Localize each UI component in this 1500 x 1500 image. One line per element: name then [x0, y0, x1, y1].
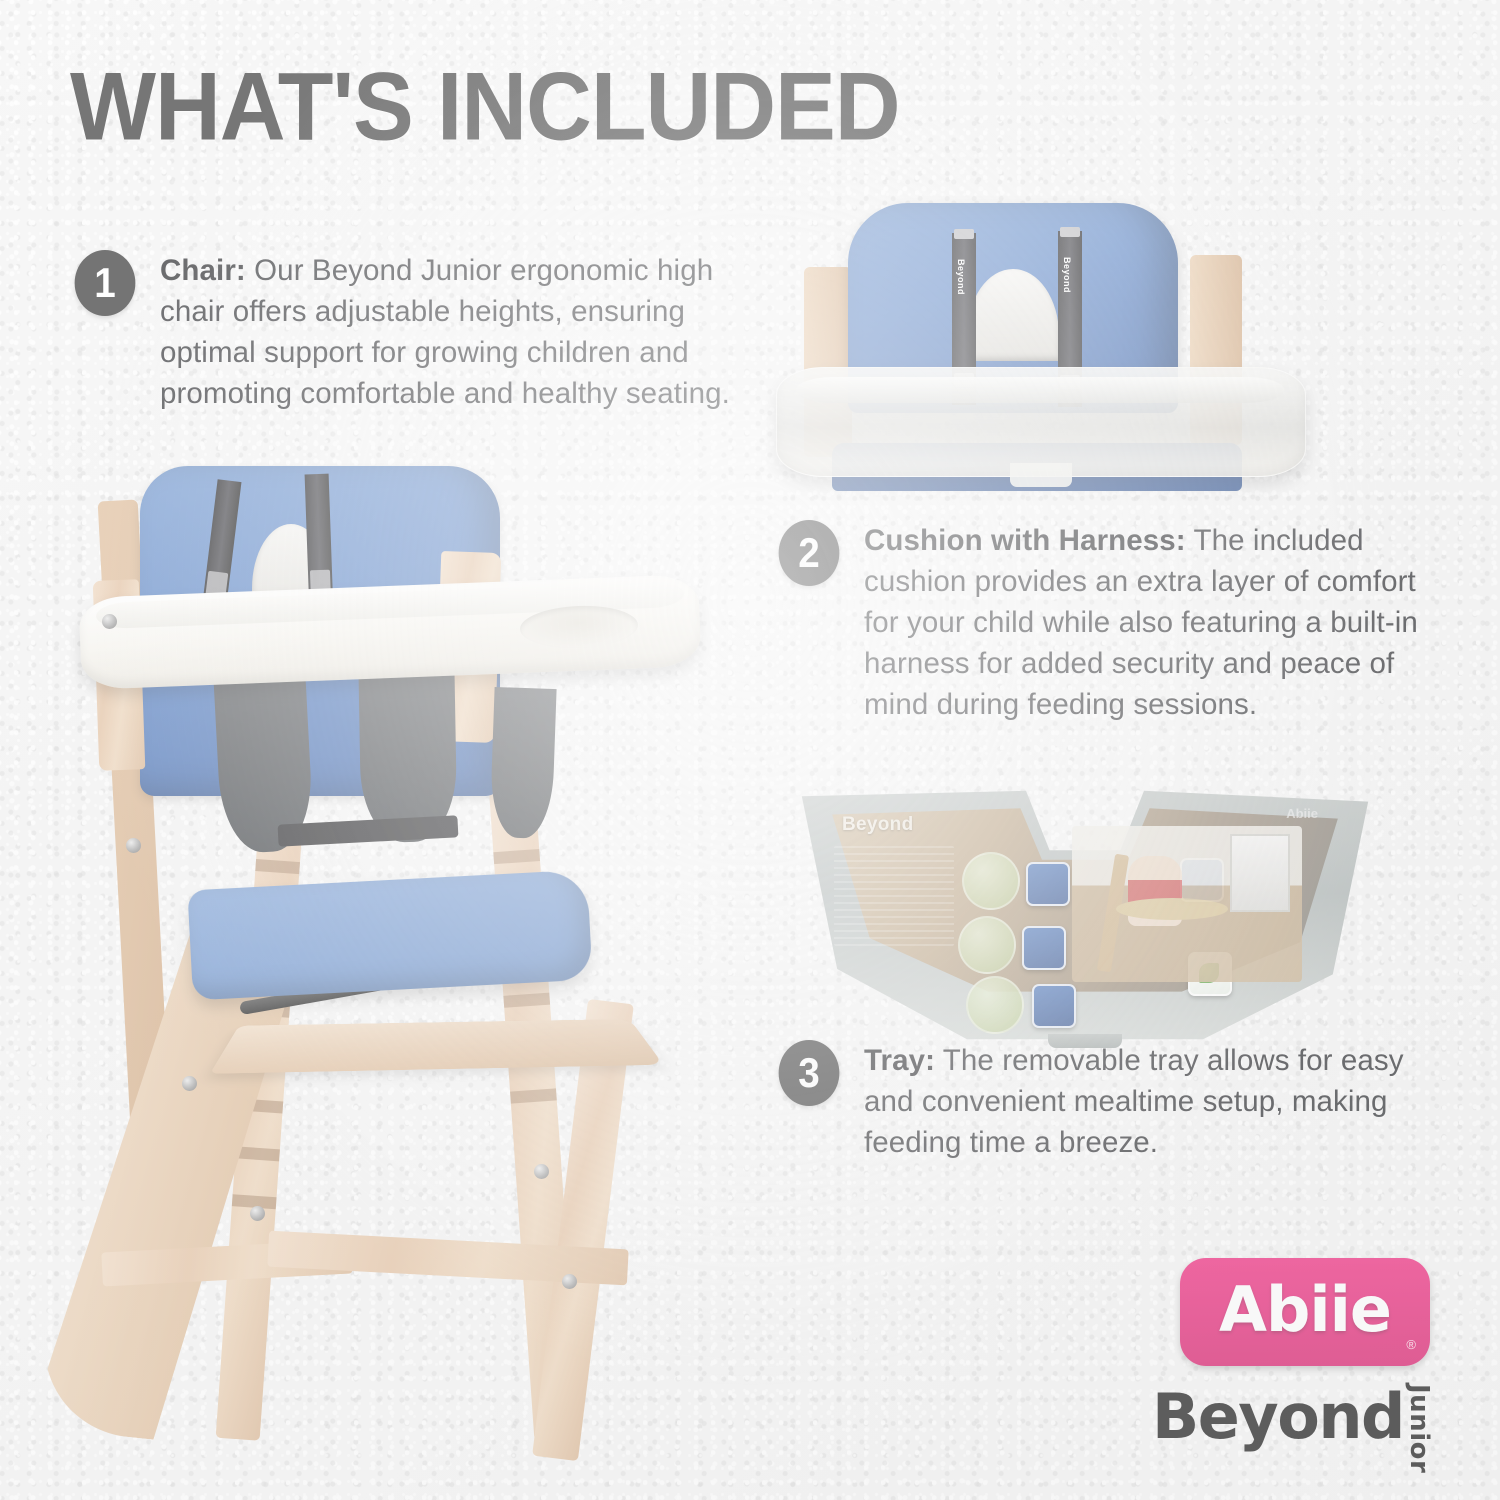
item-number-badge-1: 1 — [75, 250, 136, 316]
list-item-chair: 1 Chair: Our Beyond Junior ergonomic hig… — [72, 250, 762, 414]
tray-insert-lifestyle-photo — [1072, 826, 1302, 982]
item-text-3: The removable tray allows for easy and c… — [864, 1044, 1404, 1159]
chair-crotch-strap — [278, 815, 459, 846]
cushion-with-harness-photo: Beyond Beyond — [770, 195, 1310, 495]
item-text-1: Our Beyond Junior ergonomic high chair o… — [160, 254, 730, 410]
list-item-cushion: 2 Cushion with Harness: The included cus… — [776, 520, 1456, 725]
high-chair-photo — [40, 440, 730, 1430]
brand-logo: Abiie ® Beyond Junior — [1152, 1258, 1472, 1468]
chair-footrest-board — [210, 1019, 664, 1074]
item-body-3: Tray: The removable tray allows for easy… — [864, 1040, 1456, 1163]
item-title-3: Tray: — [864, 1044, 935, 1077]
removable-tray-photo: Beyond Abiie — [790, 780, 1380, 1050]
registered-trademark-icon: ® — [1406, 1337, 1416, 1352]
tray-insert-circle-icon-2 — [958, 916, 1016, 974]
list-item-tray: 3 Tray: The removable tray allows for ea… — [776, 1040, 1456, 1163]
tray-insert-abiie-label: Abiie — [1286, 806, 1318, 821]
abiie-wordmark: Abiie — [1219, 1273, 1391, 1346]
tray-insert-paragraph-block — [834, 846, 954, 946]
cushion-photo-tray-release-tab — [1010, 463, 1072, 487]
item-title-2: Cushion with Harness: — [864, 524, 1186, 557]
item-number-badge-3: 3 — [779, 1040, 840, 1106]
tray-insert-mesh-icon — [1026, 862, 1070, 906]
chair-seat-cushion — [187, 870, 592, 1001]
tray-insert-height-adjust-icon — [1022, 926, 1066, 970]
beyond-wordmark: Beyond — [1152, 1380, 1404, 1453]
item-body-2: Cushion with Harness: The included cushi… — [864, 520, 1456, 725]
abiie-logo-badge: Abiie ® — [1180, 1258, 1430, 1366]
page-title: WHAT'S INCLUDED — [70, 52, 900, 163]
item-body-1: Chair: Our Beyond Junior ergonomic high … — [160, 250, 762, 414]
tray-insert-brand-label: Beyond — [842, 814, 913, 836]
infographic-page: WHAT'S INCLUDED — [0, 0, 1500, 1500]
tray-insert-circle-icon-3 — [966, 976, 1024, 1034]
cushion-photo-tray-lip — [796, 377, 1284, 403]
harness-strap-left-label: Beyond — [956, 259, 966, 295]
item-number-badge-2: 2 — [779, 520, 840, 586]
harness-strap-right-label: Beyond — [1062, 257, 1072, 293]
tray-insert-circle-icon-1 — [962, 852, 1020, 910]
tray-insert-thermometer-icon — [1032, 984, 1076, 1028]
item-title-1: Chair: — [160, 254, 246, 287]
junior-wordmark: Junior — [1404, 1384, 1434, 1473]
chair-seat-insert-right — [489, 687, 556, 839]
